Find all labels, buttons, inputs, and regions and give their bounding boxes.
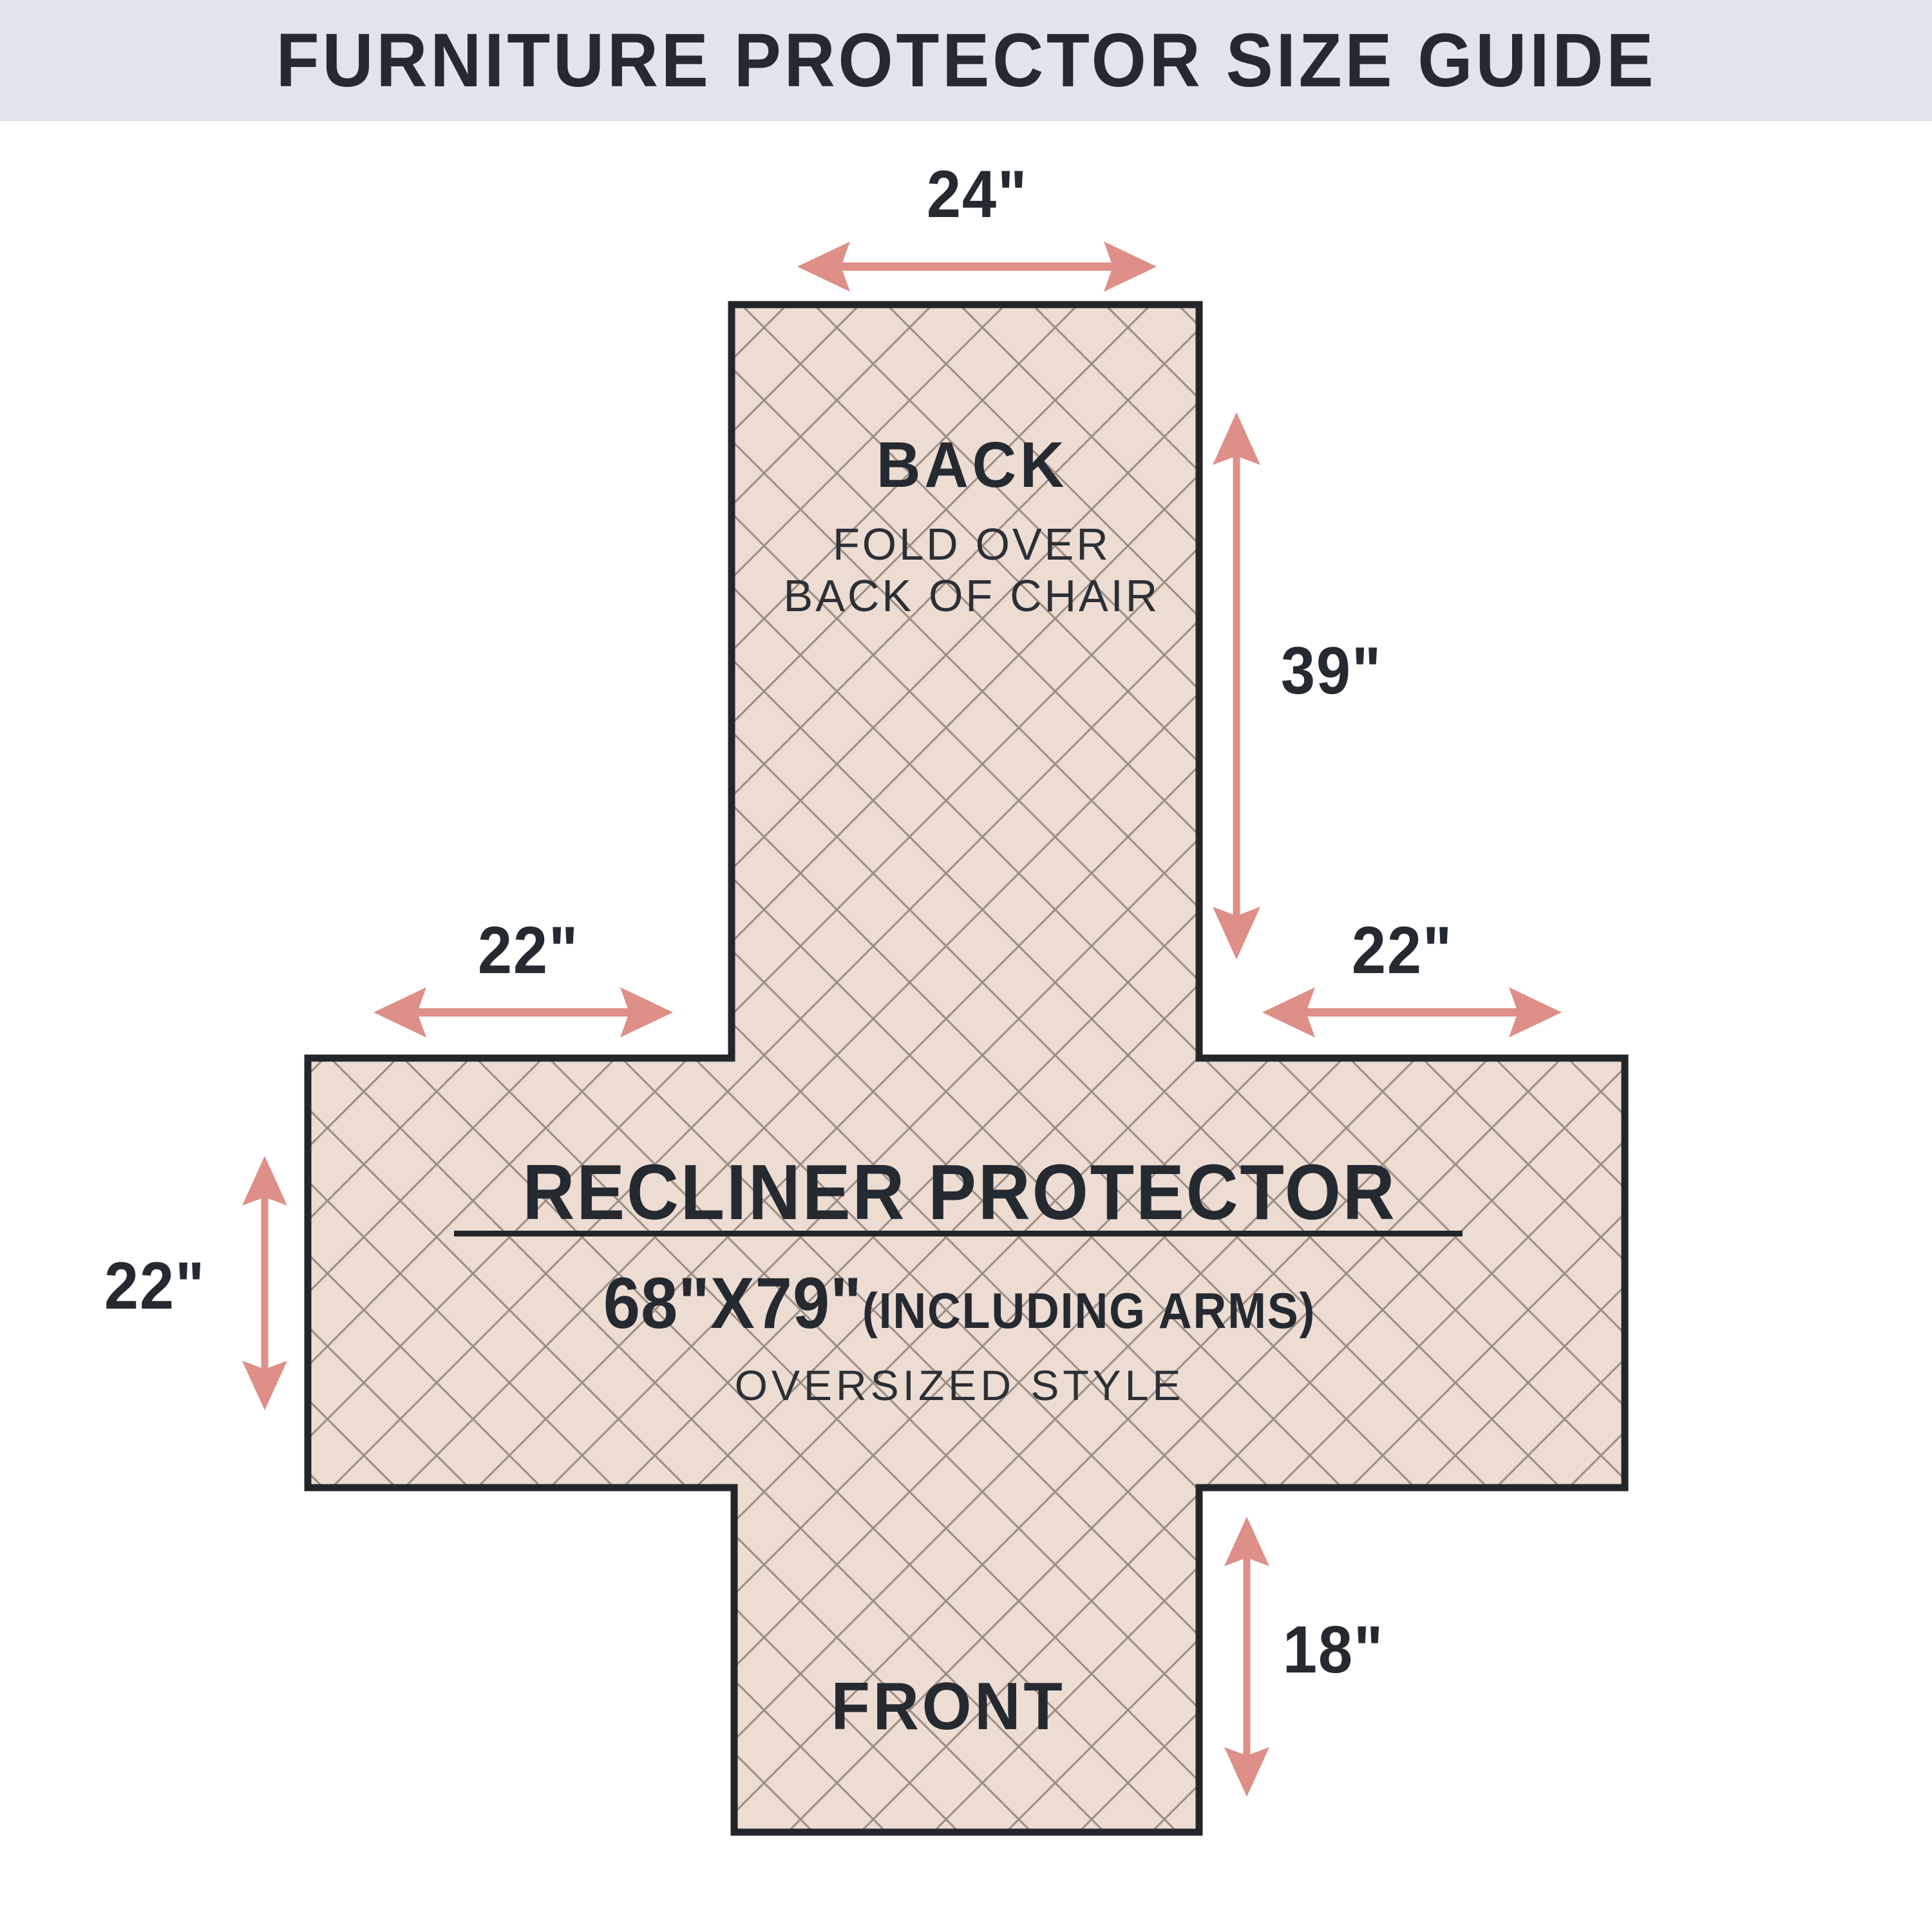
dimension-label-right-arm: 22" [1352,917,1453,984]
dimension-label-top-width: 24" [927,161,1028,228]
product-name: RECLINER PROTECTOR [504,1153,1416,1231]
product-size: 68"X79" [603,1263,862,1343]
dimension-arrow-right-arm [1262,987,1562,1037]
product-size-note: (INCLUDING ARMS) [862,1282,1316,1339]
back-panel-heading: BACK [48,433,1884,497]
size-guide-page: FURNITURE PROTECTOR SIZE GUIDE [0,0,1932,1932]
front-panel-heading: FRONT [746,1673,1188,1740]
dimension-label-left-arm: 22" [478,917,579,984]
dimension-label-front-height: 18" [1283,1616,1384,1683]
dimension-arrow-left-arm [374,987,673,1037]
back-panel-instruction-line2: BACK OF CHAIR [19,573,1913,618]
back-panel-instruction-line1: FOLD OVER [19,522,1913,567]
product-size-line: 68"X79"(INCLUDING ARMS) [504,1267,1416,1340]
dimension-arrow-top-width [797,241,1157,292]
dimension-arrow-front-height [1224,1517,1269,1797]
dimension-label-back-height: 39" [1281,638,1382,705]
product-style: OVERSIZED STYLE [464,1364,1455,1406]
dimension-label-arm-depth: 22" [104,1253,205,1320]
dimension-arrow-arm-depth [242,1156,287,1410]
protector-diagram [0,0,1932,1932]
